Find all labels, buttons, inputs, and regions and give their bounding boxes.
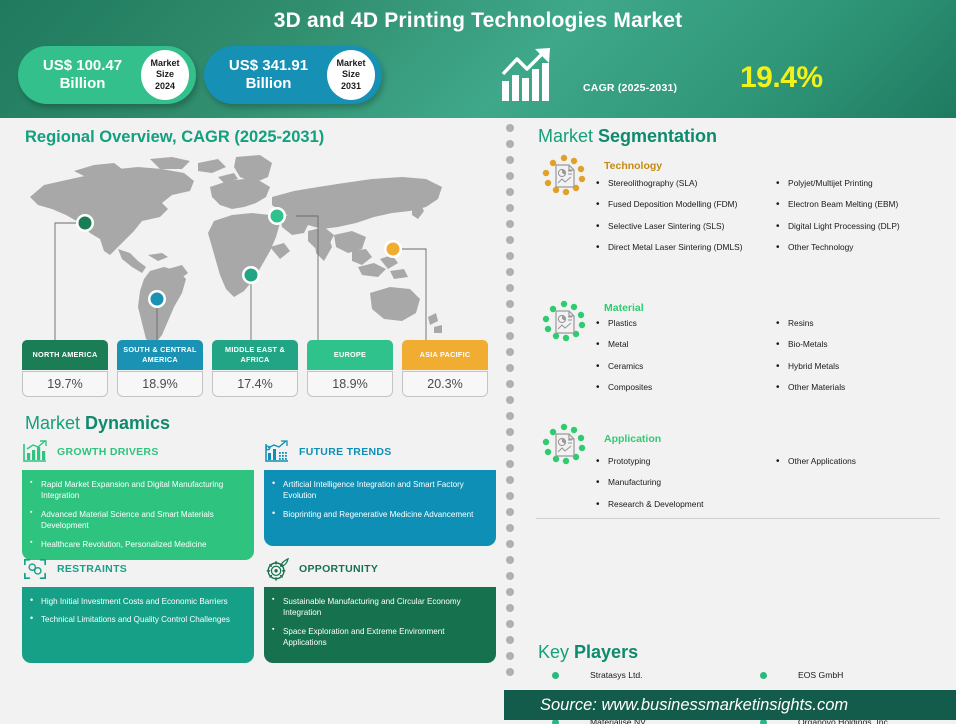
list-item: Research & Development [594,499,774,510]
divider-dot [506,220,514,228]
divider-dot [506,652,514,660]
header-banner: 3D and 4D Printing Technologies Market U… [0,0,956,118]
title-light: Market [538,126,598,146]
marker-north-america [79,217,92,230]
card-label: FUTURE TRENDS [299,446,392,458]
list-item: Rapid Market Expansion and Digital Manuf… [30,479,244,502]
divider-dot [506,252,514,260]
page-title: 3D and 4D Printing Technologies Market [0,9,956,33]
segment-column-2: Resins Bio-Metals Hybrid Metals Other Ma… [774,318,954,403]
divider-dot [506,364,514,372]
card-body: Artificial Intelligence Integration and … [264,470,496,546]
segment-column-1: Stereolithography (SLA) Fused Deposition… [594,178,774,263]
list-item: Space Exploration and Extreme Environmen… [272,626,486,649]
card-list: Sustainable Manufacturing and Circular E… [272,596,486,649]
list-item: Other Applications [774,456,954,467]
region-cagr-value: 17.4% [212,371,298,397]
card-header: GROWTH DRIVERS [22,438,254,466]
region-name: ASIA PACIFIC [402,340,488,370]
divider-dot [506,156,514,164]
card-header: RESTRAINTS [22,555,254,583]
region-name: EUROPE [307,340,393,370]
list-item: Healthcare Revolution, Personalized Medi… [30,539,244,550]
document-chart-dots-icon [540,300,588,348]
marker-middle-east-africa [245,269,258,282]
list-item: Selective Laser Sintering (SLS) [594,221,774,232]
region-card-middle-east-africa[interactable]: MIDDLE EAST & AFRICA 17.4% [212,340,298,397]
segment-list: Stereolithography (SLA) Fused Deposition… [594,178,774,253]
infographic-page: 3D and 4D Printing Technologies Market U… [0,0,956,724]
segment-column-2: Polyjet/Multijet Printing Electron Beam … [774,178,954,263]
region-card-asia-pacific[interactable]: ASIA PACIFIC 20.3% [402,340,488,397]
divider-dot [506,332,514,340]
segment-name: Technology [604,160,662,172]
divider-dot [506,476,514,484]
world-map-svg [22,151,492,351]
left-panel: Regional Overview, CAGR (2025-2031) [0,118,500,696]
title-light: Key [538,642,574,662]
marker-europe [271,210,284,223]
title-bold: Segmentation [598,126,717,146]
cagr-value: 19.4% [740,61,823,95]
list-item: Composites [594,382,774,393]
card-list: Rapid Market Expansion and Digital Manuf… [30,479,244,550]
region-cards: NORTH AMERICA 19.7% SOUTH & CENTRAL AMER… [22,340,492,402]
badge-year: 2024 [155,81,175,92]
list-item: Prototyping [594,456,774,467]
dynamics-card-growth-drivers: GROWTH DRIVERS Rapid Market Expansion an… [22,438,254,560]
list-item: Bioprinting and Regenerative Medicine Ad… [272,509,486,520]
segment-column-1: Plastics Metal Ceramics Composites [594,318,774,403]
list-item: Digital Light Processing (DLP) [774,221,954,232]
market-dynamics-title: Market Dynamics [25,413,170,434]
list-item: EOS GmbH [748,670,956,682]
divider-dot [506,412,514,420]
segment-name: Material [604,302,644,314]
card-list: High Initial Investment Costs and Econom… [30,596,244,626]
divider-dot [506,540,514,548]
divider-dot [506,636,514,644]
list-item: Hybrid Metals [774,361,954,372]
region-cagr-value: 19.7% [22,371,108,397]
map-landmasses [30,155,442,345]
dynamics-card-opportunity: OPPORTUNITY Sustainable Manufacturing an… [264,555,496,663]
region-name: NORTH AMERICA [22,340,108,370]
divider-dot [506,300,514,308]
market-size-2031-badge: Market Size 2031 [327,50,375,100]
divider-dot [506,508,514,516]
divider-dot [506,460,514,468]
list-item: Fused Deposition Modelling (FDM) [594,199,774,210]
card-body: Rapid Market Expansion and Digital Manuf… [22,470,254,560]
divider-dot [506,188,514,196]
region-cagr-value: 18.9% [117,371,203,397]
divider-dot [506,284,514,292]
document-chart-dots-icon [540,423,588,471]
card-header: OPPORTUNITY [264,555,496,583]
list-item: Stratasys Ltd. [540,670,748,682]
segment-column-2: Other Applications [774,456,954,520]
segment-columns: Prototyping Manufacturing Research & Dev… [594,456,954,520]
list-item: Bio-Metals [774,339,954,350]
market-size-2024-value: US$ 100.47 Billion [18,57,141,94]
list-item: Artificial Intelligence Integration and … [272,479,486,502]
divider-dot [506,524,514,532]
segment-list: Other Applications [774,456,954,467]
divider-dot [506,172,514,180]
cagr-label: CAGR (2025-2031) [583,82,677,94]
divider-dot [506,268,514,276]
segment-list: Plastics Metal Ceramics Composites [594,318,774,393]
list-item: Polyjet/Multijet Printing [774,178,954,189]
card-label: OPPORTUNITY [299,563,378,575]
source-text[interactable]: Source: www.businessmarketinsights.com [540,696,848,715]
title-bold: Players [574,642,638,662]
dynamics-card-future-trends: FUTURE TRENDS Artificial Intelligence In… [264,438,496,546]
list-item: Sustainable Manufacturing and Circular E… [272,596,486,619]
list-item: Manufacturing [594,477,774,488]
pill-b-amount: US$ 341.91 [229,57,308,74]
title-light: Market [25,413,85,433]
region-cagr-value: 20.3% [402,371,488,397]
badge-line-1: Market [336,58,365,69]
divider-dot [506,668,514,676]
divider-dot [506,556,514,564]
marker-asia-pacific [387,243,400,256]
card-body: Sustainable Manufacturing and Circular E… [264,587,496,663]
segment-columns: Plastics Metal Ceramics Composites Resin… [594,318,954,403]
badge-line-2: Size [342,69,360,80]
regional-overview-title: Regional Overview, CAGR (2025-2031) [25,128,324,147]
segment-name: Application [604,433,661,445]
market-size-2031-pill: US$ 341.91 Billion Market Size 2031 [204,46,382,104]
key-players-title: Key Players [538,642,638,663]
market-segmentation-title: Market Segmentation [538,126,717,147]
dynamics-card-restraints: RESTRAINTS High Initial Investment Costs… [22,555,254,663]
list-item: Other Technology [774,242,954,253]
pill-a-amount: US$ 100.47 [43,57,122,74]
dotted-divider [506,124,518,684]
segment-column-1: Prototyping Manufacturing Research & Dev… [594,456,774,520]
list-item: Plastics [594,318,774,329]
source-bar: Source: www.businessmarketinsights.com [504,690,956,720]
card-header: FUTURE TRENDS [264,438,496,466]
list-item: Electron Beam Melting (EBM) [774,199,954,210]
divider-dot [506,396,514,404]
marker-south-central-america [151,293,164,306]
list-item: Other Materials [774,382,954,393]
divider-dot [506,380,514,388]
segment-columns: Stereolithography (SLA) Fused Deposition… [594,178,954,263]
scan-link-icon [22,557,48,581]
badge-line-1: Market [150,58,179,69]
divider-dot [506,204,514,212]
divider-dot [506,428,514,436]
segment-list: Polyjet/Multijet Printing Electron Beam … [774,178,954,253]
divider-dot [506,444,514,452]
region-card-europe[interactable]: EUROPE 18.9% [307,340,393,397]
badge-line-2: Size [156,69,174,80]
target-gear-leaf-icon [264,557,290,581]
list-item: High Initial Investment Costs and Econom… [30,596,244,607]
divider-dot [506,236,514,244]
divider-dot [506,140,514,148]
growth-chart-arrow-icon [500,47,562,103]
pill-b-unit: Billion [246,75,292,92]
market-size-2031-value: US$ 341.91 Billion [204,57,327,94]
region-name: MIDDLE EAST & AFRICA [212,340,298,370]
right-panel: Market Segmentation Technology [528,118,956,696]
card-body: High Initial Investment Costs and Econom… [22,587,254,663]
pill-a-unit: Billion [60,75,106,92]
market-size-2024-pill: US$ 100.47 Billion Market Size 2024 [18,46,196,104]
title-bold: Dynamics [85,413,170,433]
divider-dot [506,124,514,132]
list-item: Stereolithography (SLA) [594,178,774,189]
list-item: Advanced Material Science and Smart Mate… [30,509,244,532]
divider-dot [506,604,514,612]
bar-chart-growth-icon [22,440,48,464]
segment-list: Resins Bio-Metals Hybrid Metals Other Ma… [774,318,954,393]
list-item: Resins [774,318,954,329]
list-item: Technical Limitations and Quality Contro… [30,614,244,625]
divider-dot [506,572,514,580]
region-card-south-central-america[interactable]: SOUTH & CENTRAL AMERICA 18.9% [117,340,203,397]
region-card-north-america[interactable]: NORTH AMERICA 19.7% [22,340,108,397]
segment-list: Prototyping Manufacturing Research & Dev… [594,456,774,510]
divider-dot [506,492,514,500]
document-chart-dots-icon [540,154,588,202]
card-label: RESTRAINTS [57,563,127,575]
list-item: Direct Metal Laser Sintering (DMLS) [594,242,774,253]
divider-dot [506,588,514,596]
world-map [22,151,492,351]
section-divider-line [536,518,940,519]
list-item: Metal [594,339,774,350]
divider-dot [506,316,514,324]
market-size-2024-badge: Market Size 2024 [141,50,189,100]
divider-dot [506,620,514,628]
trend-analytics-icon [264,440,290,464]
badge-year: 2031 [341,81,361,92]
card-label: GROWTH DRIVERS [57,446,159,458]
region-cagr-value: 18.9% [307,371,393,397]
region-name: SOUTH & CENTRAL AMERICA [117,340,203,370]
list-item: Ceramics [594,361,774,372]
card-list: Artificial Intelligence Integration and … [272,479,486,520]
divider-dot [506,348,514,356]
